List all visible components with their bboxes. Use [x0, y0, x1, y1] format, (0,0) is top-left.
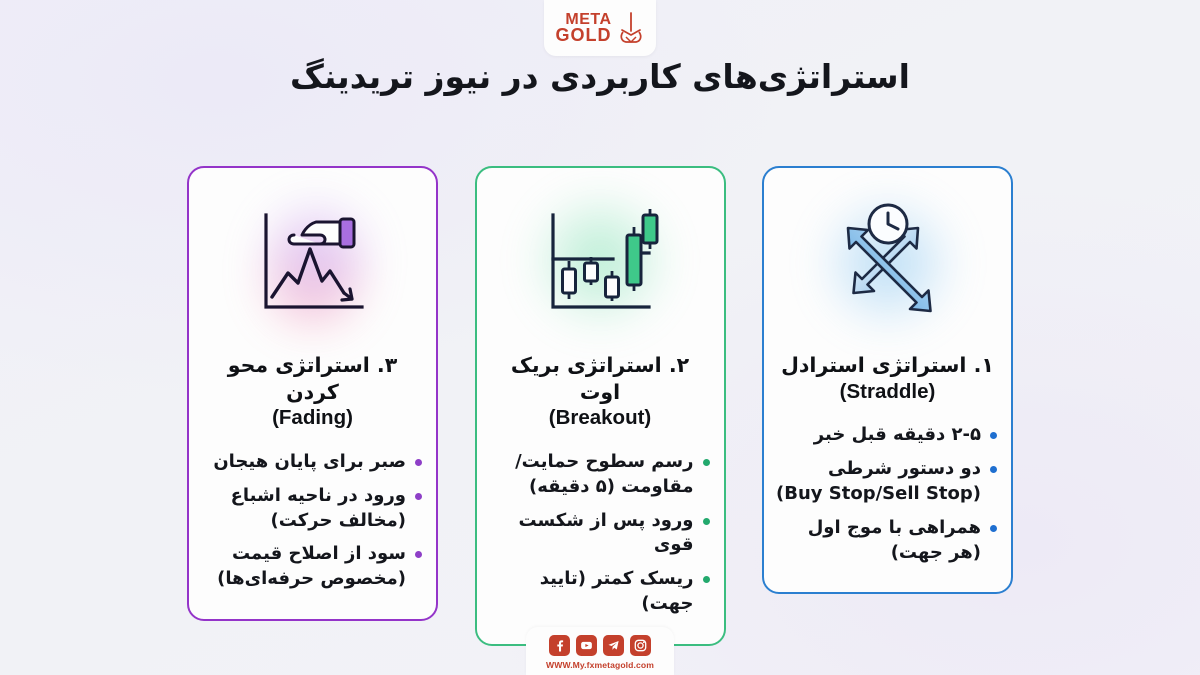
list-item: ریسک کمتر (تایید جهت) [489, 567, 712, 617]
social-links [532, 635, 668, 656]
card-straddle[interactable]: ۱. استراتژی استرادل (Straddle) ۲-۵ دقیقه… [762, 166, 1013, 594]
card-fading-title-fa: ۳. استراتژی محو کردن [228, 353, 397, 404]
list-item: رسم سطوح حمایت/ مقاومت (۵ دقیقه) [489, 450, 712, 500]
card-straddle-title-en: (Straddle) [781, 379, 994, 406]
card-fading[interactable]: ۳. استراتژی محو کردن (Fading) صبر برای پ… [187, 166, 438, 621]
card-breakout-title-en: (Breakout) [489, 405, 712, 432]
list-item: دو دستور شرطی (Buy Stop/Sell Stop) [776, 457, 999, 507]
card-fading-title: ۳. استراتژی محو کردن (Fading) [201, 352, 424, 432]
fading-icon-box [233, 188, 393, 338]
page-title: استراتژی‌های کاربردی در نیوز تریدینگ [0, 57, 1200, 96]
card-straddle-title-fa: ۱. استراتژی استرادل [781, 353, 994, 377]
card-fading-bullets: صبر برای پایان هیجان ورود در ناحیه اشباع… [201, 450, 424, 601]
card-breakout[interactable]: ۲. استراتژی بریک اوت (Breakout) رسم سطوح… [475, 166, 726, 646]
instagram-icon[interactable] [630, 635, 651, 656]
list-item: سود از اصلاح قیمت (مخصوص حرفه‌ای‌ها) [201, 542, 424, 592]
straddle-icon-box [808, 188, 968, 338]
brand-logo: META GOLD [544, 0, 656, 56]
footer-bar: WWW.My.fxmetagold.com [526, 627, 674, 675]
strategy-cards: ۱. استراتژی استرادل (Straddle) ۲-۵ دقیقه… [187, 166, 1013, 646]
facebook-icon[interactable] [549, 635, 570, 656]
card-straddle-bullets: ۲-۵ دقیقه قبل خبر دو دستور شرطی (Buy Sto… [776, 423, 999, 574]
bull-logo-icon [617, 11, 645, 45]
list-item: ورود در ناحیه اشباع (مخالف حرکت) [201, 484, 424, 534]
crossed-arrows-clock-icon [822, 200, 954, 326]
card-breakout-title-fa: ۲. استراتژی بریک اوت [511, 353, 689, 404]
card-straddle-title: ۱. استراتژی استرادل (Straddle) [781, 352, 994, 405]
infographic-canvas: META GOLD استراتژی‌های کاربردی در نیوز ت… [0, 0, 1200, 675]
logo-text-gold: GOLD [556, 27, 612, 44]
breakout-icon-box [520, 188, 680, 338]
website-url[interactable]: WWW.My.fxmetagold.com [532, 660, 668, 670]
card-breakout-title: ۲. استراتژی بریک اوت (Breakout) [489, 352, 712, 432]
list-item: همراهی با موج اول (هر جهت) [776, 516, 999, 566]
youtube-icon[interactable] [576, 635, 597, 656]
list-item: ۲-۵ دقیقه قبل خبر [776, 423, 999, 448]
list-item: ورود پس از شکست قوی [489, 509, 712, 559]
card-fading-title-en: (Fading) [201, 405, 424, 432]
telegram-icon[interactable] [603, 635, 624, 656]
list-item: صبر برای پایان هیجان [201, 450, 424, 475]
hand-pressing-chart-icon [250, 201, 376, 325]
candlestick-breakout-icon [537, 201, 663, 325]
card-breakout-bullets: رسم سطوح حمایت/ مقاومت (۵ دقیقه) ورود پس… [489, 450, 712, 626]
